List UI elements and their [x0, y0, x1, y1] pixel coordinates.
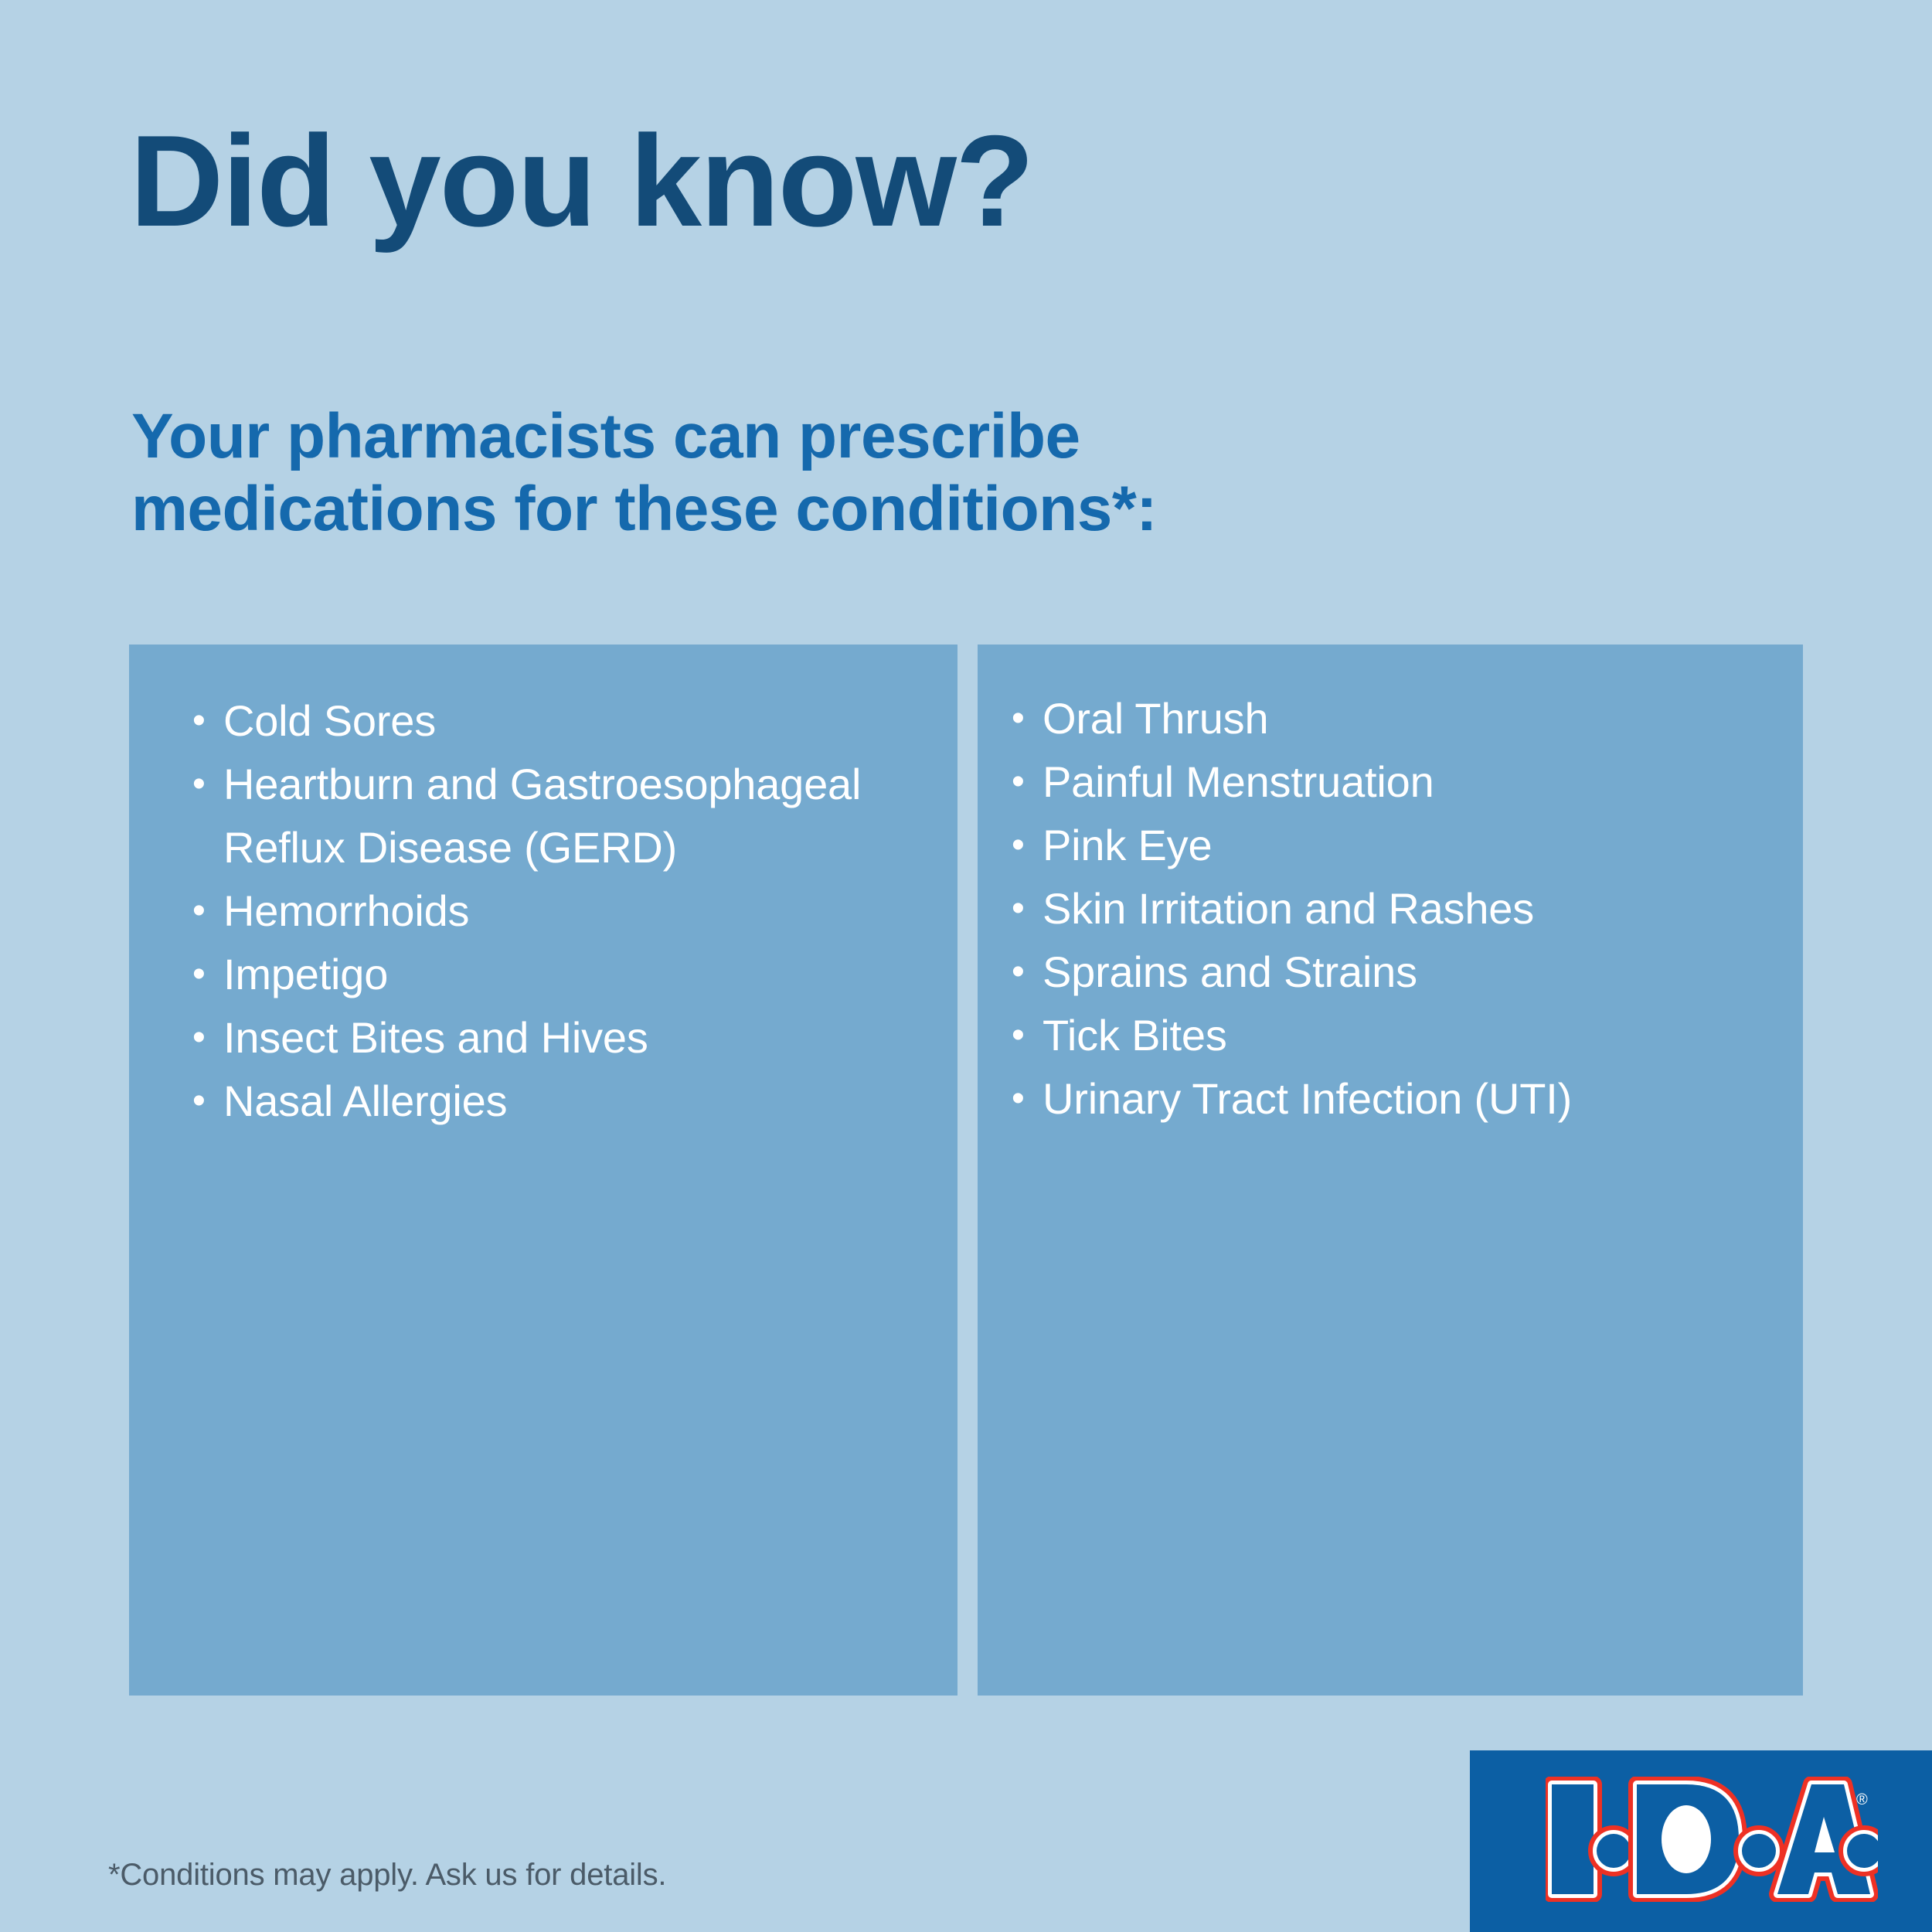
footnote-disclaimer: *Conditions may apply. Ask us for detail… [108, 1858, 666, 1893]
list-item: Insect Bites and Hives [189, 1006, 934, 1070]
list-item: Tick Bites [1009, 1004, 1780, 1067]
list-item: Painful Menstruation [1009, 750, 1780, 814]
subheading-line-1: Your pharmacists can prescribe [131, 400, 1157, 473]
list-item: Cold Sores [189, 689, 934, 753]
poster-canvas: Did you know? Your pharmacists can presc… [0, 0, 1932, 1932]
list-item: Oral Thrush [1009, 687, 1780, 750]
list-item: Sprains and Strains [1009, 940, 1780, 1004]
list-item: Heartburn and Gastroesophageal Reflux Di… [189, 753, 934, 879]
list-item: Pink Eye [1009, 814, 1780, 877]
ida-logo-icon: ® [1546, 1777, 1878, 1902]
page-title: Did you know? [130, 116, 1033, 246]
registered-mark: ® [1856, 1791, 1868, 1808]
subheading: Your pharmacists can prescribe medicatio… [131, 400, 1157, 546]
list-item: Skin Irritation and Rashes [1009, 877, 1780, 940]
subheading-line-2: medications for these conditions*: [131, 473, 1157, 546]
conditions-panel-right: Oral Thrush Painful Menstruation Pink Ey… [978, 645, 1803, 1696]
list-item: Urinary Tract Infection (UTI) [1009, 1067, 1780, 1131]
conditions-panel-left: Cold Sores Heartburn and Gastroesophagea… [129, 645, 957, 1696]
brand-logo-block: ® [1470, 1750, 1932, 1932]
list-item: Nasal Allergies [189, 1070, 934, 1133]
list-item: Hemorrhoids [189, 879, 934, 943]
list-item: Impetigo [189, 943, 934, 1006]
conditions-list-left: Cold Sores Heartburn and Gastroesophagea… [129, 645, 957, 1133]
conditions-list-right: Oral Thrush Painful Menstruation Pink Ey… [978, 645, 1803, 1131]
